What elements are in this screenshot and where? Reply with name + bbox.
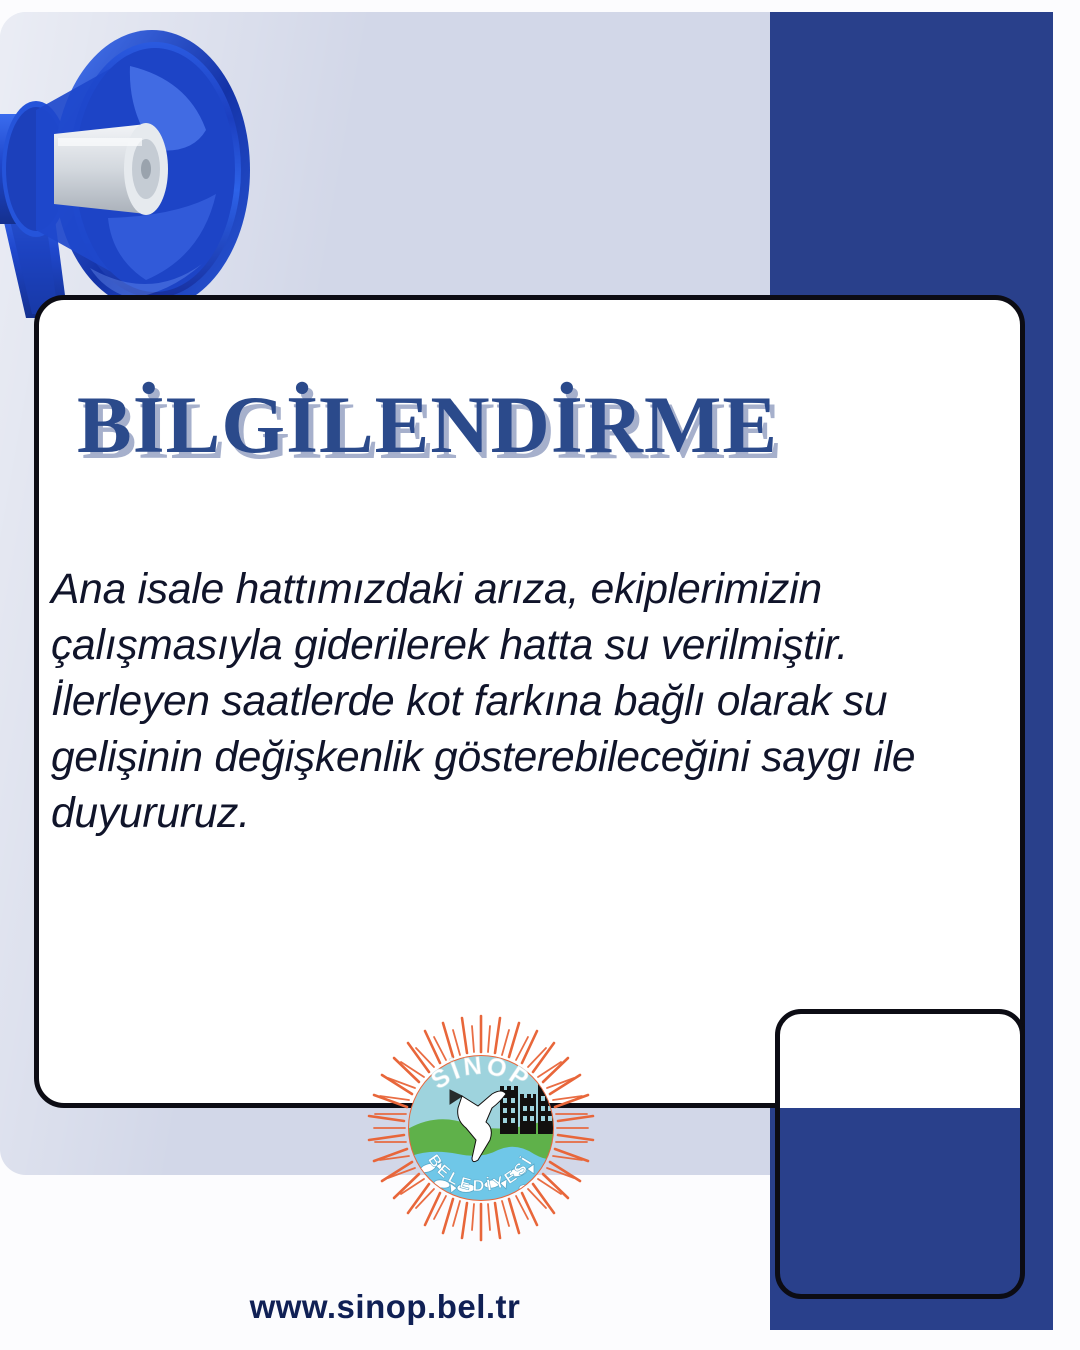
- accent-rounded-rectangle: [775, 1009, 1025, 1299]
- announcement-poster: BİLGİLENDİRME Ana isale hattımızdaki arı…: [0, 0, 1080, 1350]
- sinop-belediyesi-logo: SİNOP BELEDİYESİ: [366, 1012, 596, 1244]
- page-title: BİLGİLENDİRME: [77, 378, 778, 472]
- megaphone-illustration: [0, 18, 310, 328]
- announcement-body: Ana isale hattımızdaki arıza, ekiplerimi…: [51, 562, 1001, 842]
- website-url[interactable]: www.sinop.bel.tr: [0, 1288, 770, 1326]
- announcement-card: BİLGİLENDİRME Ana isale hattımızdaki arı…: [34, 295, 1025, 1108]
